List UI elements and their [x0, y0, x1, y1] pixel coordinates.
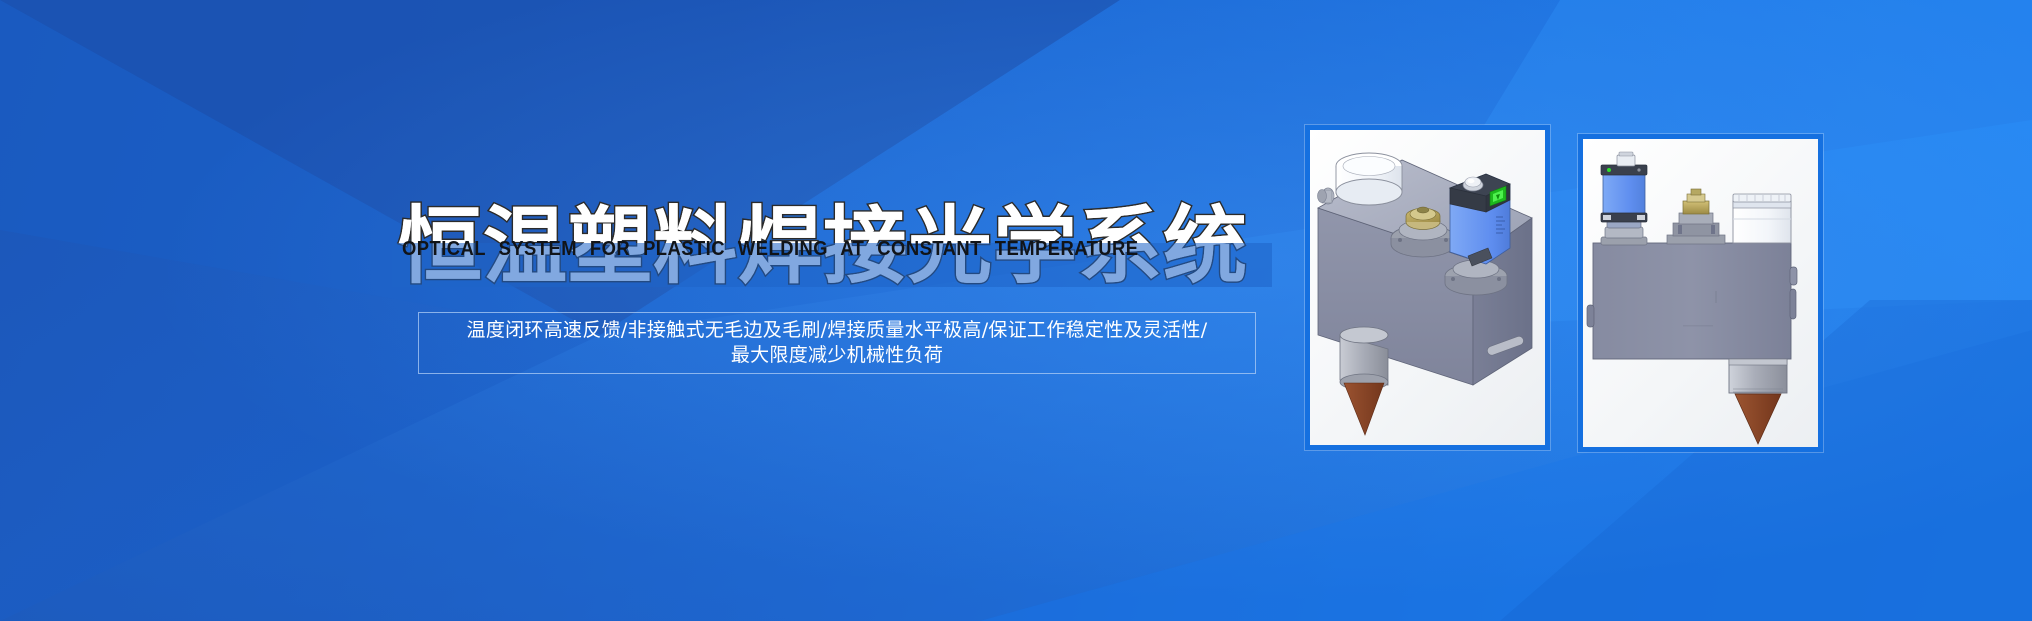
product-render-front	[1583, 139, 1818, 447]
promo-banner: 恒温塑料焊接光学系统 恒温塑料焊接光学系统 OPTICAL SYSTEM FOR…	[0, 0, 2032, 621]
subtitle-box: 温度闭环高速反馈/非接触式无毛边及毛刷/焊接质量水平极高/保证工作稳定性及灵活性…	[418, 312, 1256, 374]
title-group: 恒温塑料焊接光学系统 恒温塑料焊接光学系统 OPTICAL SYSTEM FOR…	[398, 198, 1268, 298]
product-image-frame-isometric	[1305, 125, 1550, 450]
page-title-english: OPTICAL SYSTEM FOR PLASTIC WELDING AT CO…	[402, 238, 1195, 260]
product-render-isometric	[1310, 130, 1545, 445]
subtitle-text: 温度闭环高速反馈/非接触式无毛边及毛刷/焊接质量水平极高/保证工作稳定性及灵活性…	[467, 318, 1208, 368]
product-image-frame-front	[1578, 134, 1823, 452]
